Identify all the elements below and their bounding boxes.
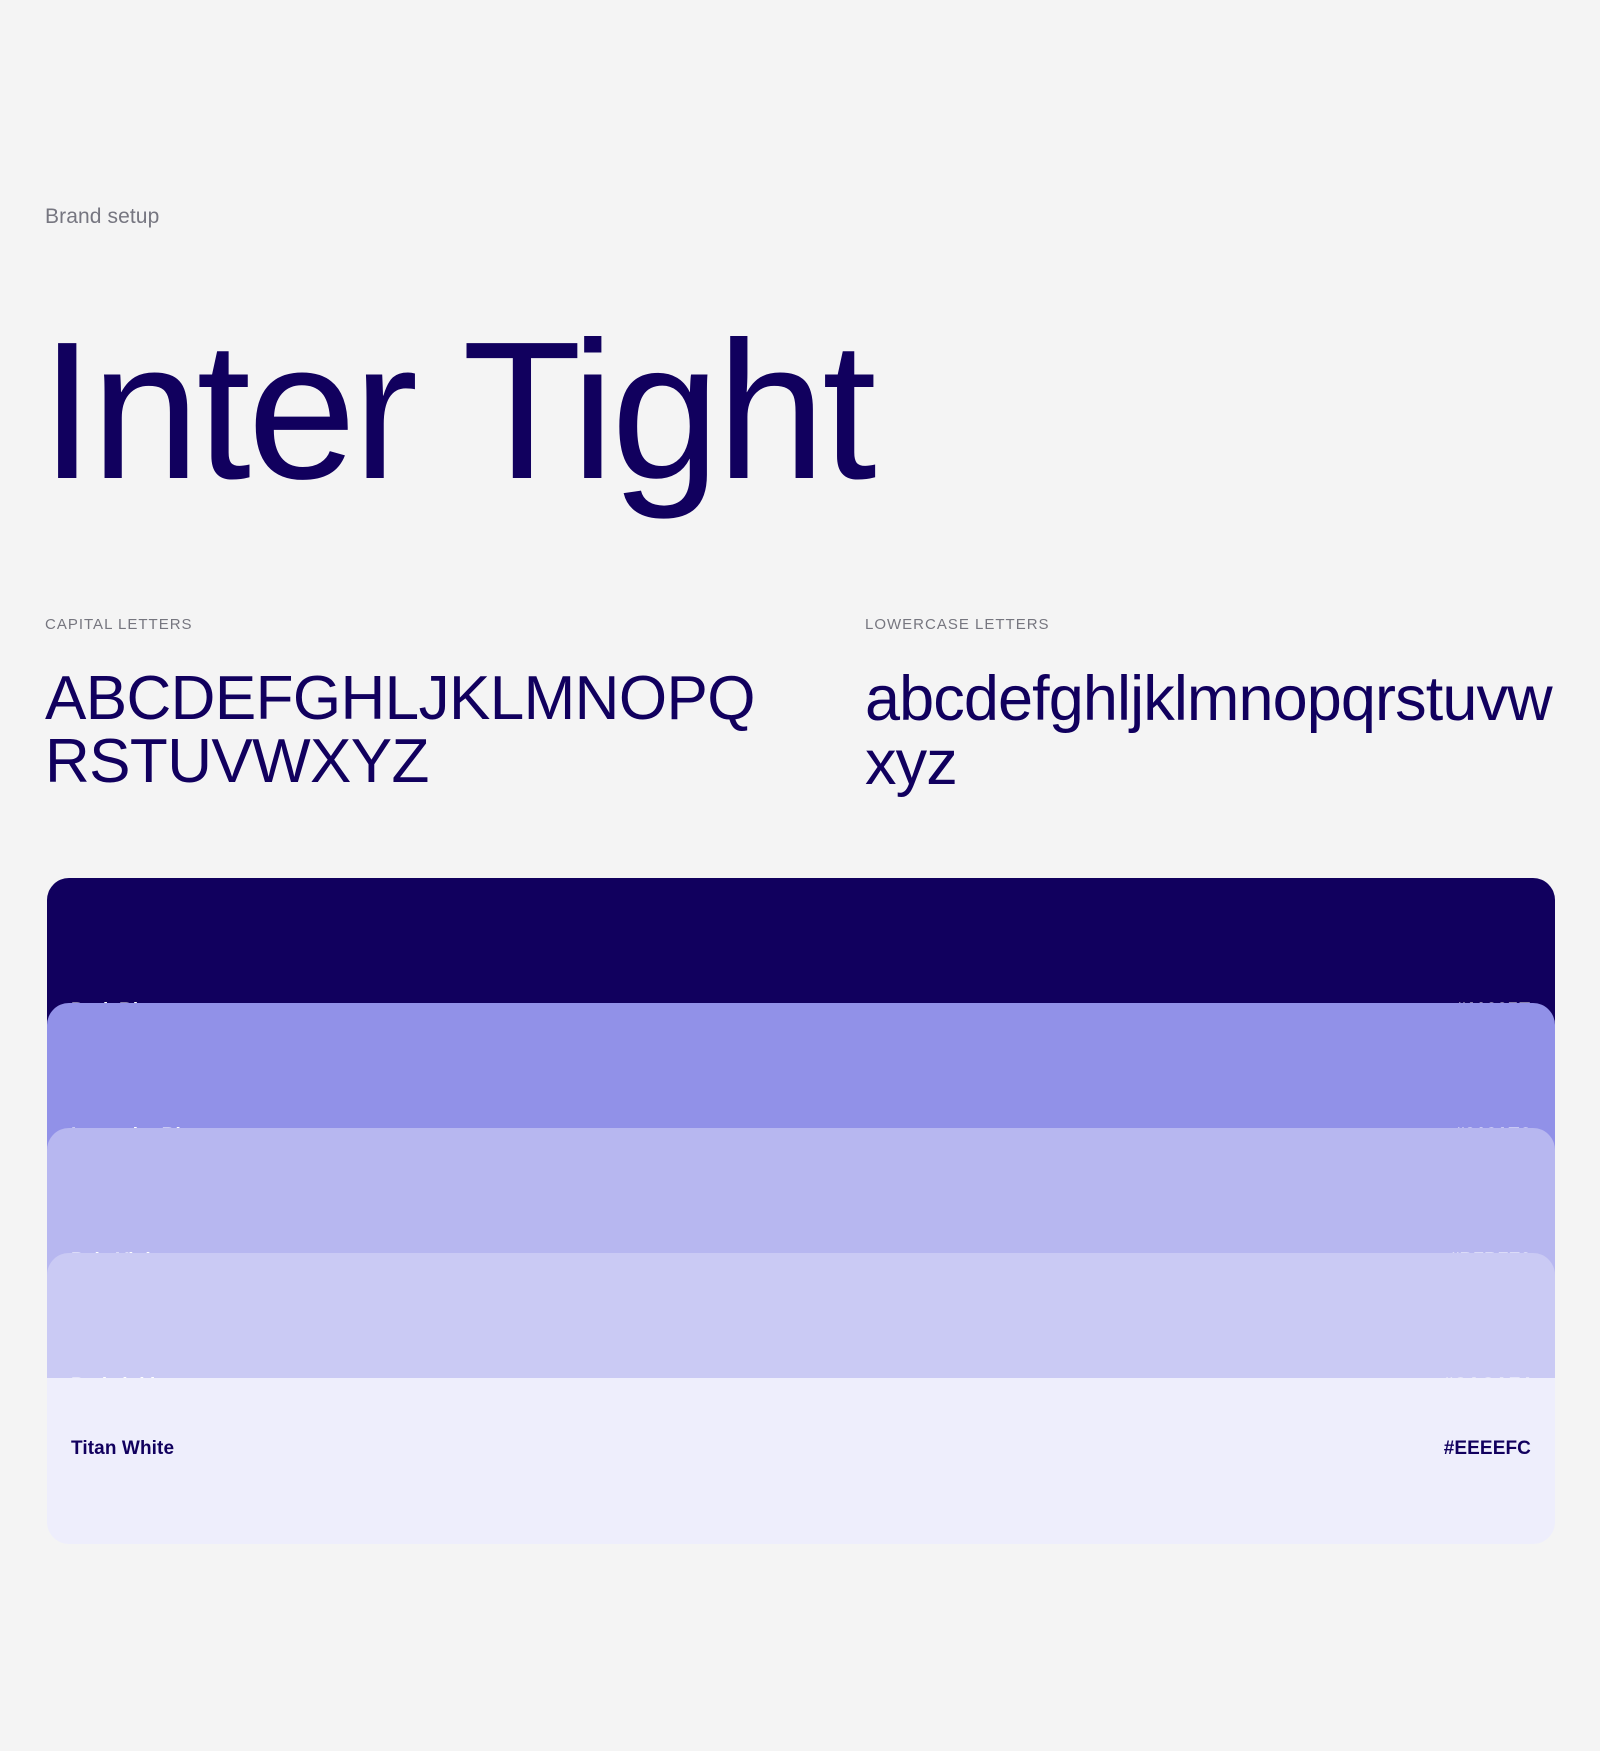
specimen-lowercase-letters: LOWERCASE LETTERS abcdefghljklmnopqrstuv… [865, 616, 1565, 796]
specimen-glyphs-capitals: ABCDEFGHLJKLMNOPQRSTUVWXYZ [45, 667, 785, 793]
color-swatch-titan-white[interactable]: Titan White #EEEEFC [47, 1378, 1555, 1544]
swatch-name-titan-white: Titan White [71, 1438, 174, 1460]
font-name-title: Inter Tight [40, 313, 873, 509]
specimen-label-lowercase: LOWERCASE LETTERS [865, 616, 1565, 633]
page-eyebrow: Brand setup [45, 205, 159, 229]
color-palette: Dark Blue #11005E Lavender Blue #9191E8 … [47, 878, 1555, 1544]
specimen-capital-letters: CAPITAL LETTERS ABCDEFGHLJKLMNOPQRSTUVWX… [45, 616, 785, 793]
brand-style-guide-page: Brand setup Inter Tight CAPITAL LETTERS … [0, 0, 1600, 1751]
swatch-hex-titan-white: #EEEEFC [1444, 1438, 1531, 1460]
specimen-glyphs-lowercase: abcdefghljklmnopqrstuvwxyz [865, 667, 1565, 796]
specimen-label-capitals: CAPITAL LETTERS [45, 616, 785, 633]
